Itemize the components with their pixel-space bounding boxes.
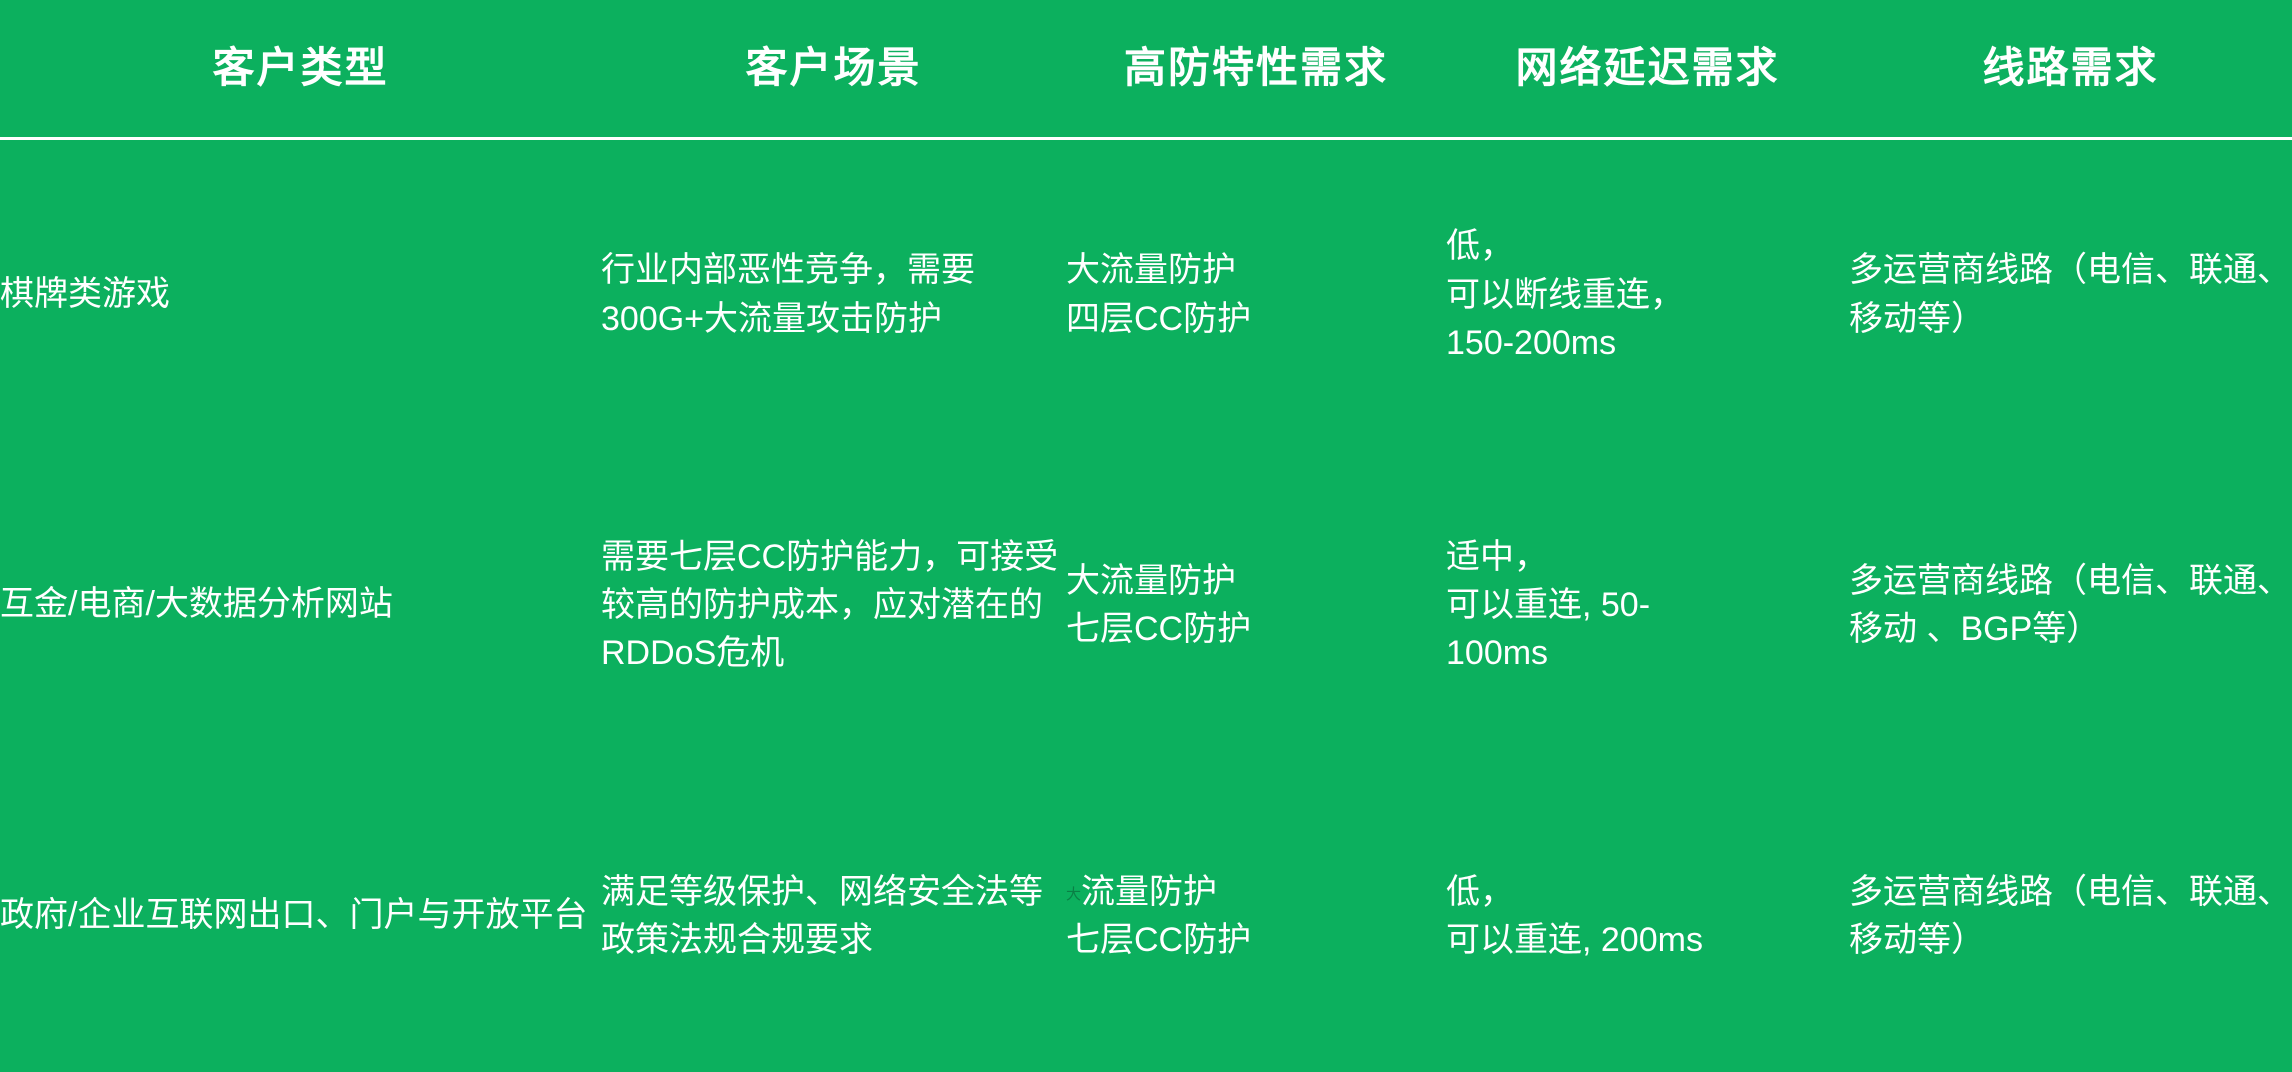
feature-text-1: 流量防护: [1081, 873, 1217, 911]
table-body: 棋牌类游戏 行业内部恶性竞争，需要300G+大流量攻击防护 大流量防护 四层CC…: [0, 139, 2292, 1072]
cell-protection-feature: 大流量防护 四层CC防护: [1066, 139, 1446, 450]
feature-line-1: 大流量防护: [1066, 557, 1446, 605]
latency-line-1: 低，: [1446, 222, 1849, 270]
table-row: 政府/企业互联网出口、门户与开放平台 满足等级保护、网络安全法等政策法规合规要求…: [0, 761, 2292, 1072]
latency-line-2: 可以重连, 50-: [1446, 581, 1849, 629]
latency-line-3: 150-200ms: [1446, 319, 1849, 367]
feature-line-1: 大流量防护: [1066, 868, 1446, 916]
cell-customer-scenario: 需要七层CC防护能力，可接受较高的防护成本，应对潜在的RDDoS危机: [601, 450, 1066, 761]
cell-line-requirement: 多运营商线路（电信、联通、移动等）: [1849, 761, 2292, 1072]
column-header-protection-feature: 高防特性需求: [1066, 0, 1446, 139]
cell-network-latency: 低， 可以重连, 200ms: [1446, 761, 1849, 1072]
latency-line-2: 可以重连, 200ms: [1446, 916, 1849, 964]
table-row: 棋牌类游戏 行业内部恶性竞争，需要300G+大流量攻击防护 大流量防护 四层CC…: [0, 139, 2292, 450]
column-header-line-requirement: 线路需求: [1849, 0, 2292, 139]
cell-line-requirement: 多运营商线路（电信、联通、移动 、BGP等）: [1849, 450, 2292, 761]
cell-customer-type: 互金/电商/大数据分析网站: [0, 450, 601, 761]
feature-text-1: 大流量防护: [1066, 562, 1236, 600]
cell-line-requirement: 多运营商线路（电信、联通、移动等）: [1849, 139, 2292, 450]
feature-text-1: 大流量防护: [1066, 251, 1236, 289]
feature-line-2: 七层CC防护: [1066, 605, 1446, 653]
cell-customer-type: 棋牌类游戏: [0, 139, 601, 450]
feature-line-2: 七层CC防护: [1066, 916, 1446, 964]
latency-line-1: 适中，: [1446, 533, 1849, 581]
latency-line-1: 低，: [1446, 868, 1849, 916]
cell-protection-feature: 大流量防护 七层CC防护: [1066, 450, 1446, 761]
table-header: 客户类型 客户场景 高防特性需求 网络延迟需求 线路需求: [0, 0, 2292, 139]
column-header-customer-scenario: 客户场景: [601, 0, 1066, 139]
cell-protection-feature: 大流量防护 七层CC防护: [1066, 761, 1446, 1072]
feature-line-2: 四层CC防护: [1066, 295, 1446, 343]
latency-line-2: 可以断线重连，: [1446, 271, 1849, 319]
cell-customer-scenario: 满足等级保护、网络安全法等政策法规合规要求: [601, 761, 1066, 1072]
cell-customer-scenario: 行业内部恶性竞争，需要300G+大流量攻击防护: [601, 139, 1066, 450]
cell-network-latency: 适中， 可以重连, 50- 100ms: [1446, 450, 1849, 761]
column-header-network-latency: 网络延迟需求: [1446, 0, 1849, 139]
requirements-table: 客户类型 客户场景 高防特性需求 网络延迟需求 线路需求 棋牌类游戏 行业内部恶…: [0, 0, 2292, 1072]
cell-customer-type: 政府/企业互联网出口、门户与开放平台: [0, 761, 601, 1072]
table-row: 互金/电商/大数据分析网站 需要七层CC防护能力，可接受较高的防护成本，应对潜在…: [0, 450, 2292, 761]
column-header-customer-type: 客户类型: [0, 0, 601, 139]
feature-line-1: 大流量防护: [1066, 246, 1446, 294]
feature-prefix-mark: 大: [1066, 886, 1081, 903]
cell-network-latency: 低， 可以断线重连， 150-200ms: [1446, 139, 1849, 450]
header-row: 客户类型 客户场景 高防特性需求 网络延迟需求 线路需求: [0, 0, 2292, 139]
latency-line-3: 100ms: [1446, 629, 1849, 677]
